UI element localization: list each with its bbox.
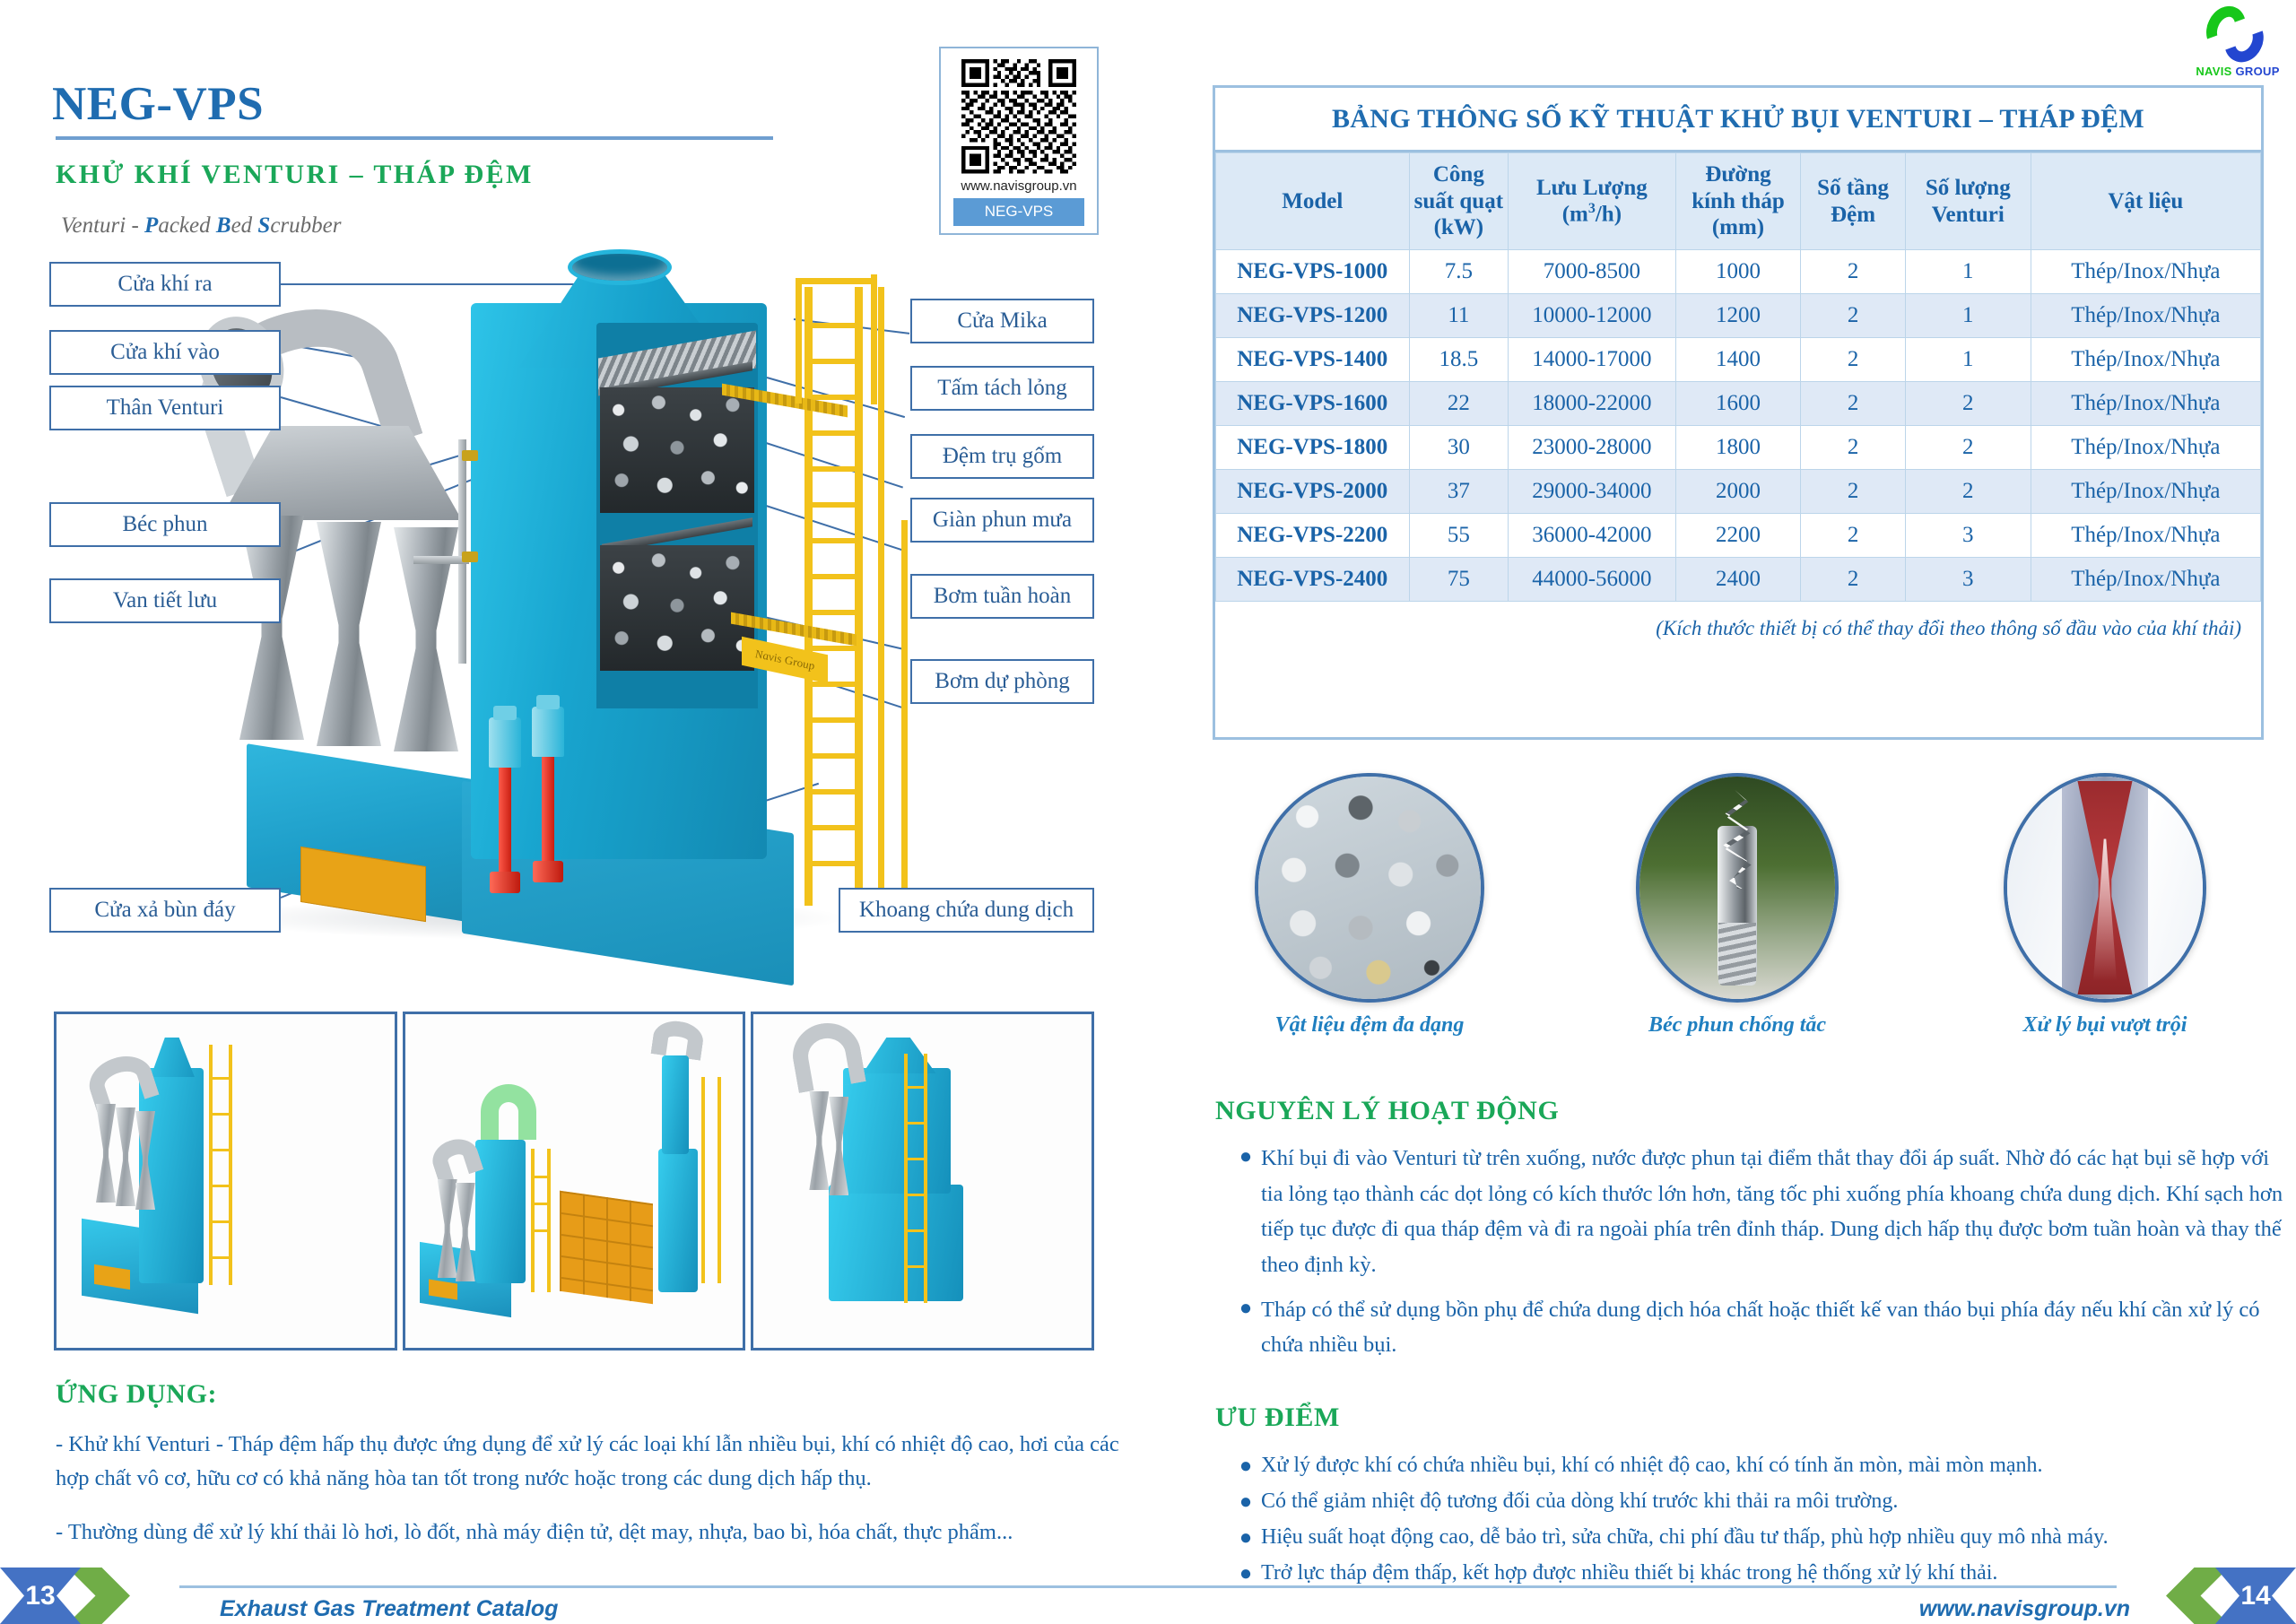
col-flow-rate: Lưu Lượng(m3/h) [1509,153,1675,250]
backup-pump-motor [532,707,564,757]
page-title: NEG-VPS [52,77,264,131]
callout-ceramic-packing: Đệm trụ gốm [910,434,1094,479]
circulation-pump-motor [489,717,521,768]
spec-table-container: BẢNG THÔNG SỐ KỸ THUẬT KHỬ BỤI VENTURI –… [1213,85,2264,740]
table-row: NEG-VPS-24007544000-56000240023Thép/Inox… [1216,558,2261,602]
venturi-throat-photo-icon [2004,773,2206,1003]
footer-divider [179,1585,2117,1588]
en-crubber: crubber [270,213,341,238]
throttle-valve-lower [462,551,478,562]
list-item: ● Hiệu suất hoạt động cao, dễ bảo trì, s… [1231,1522,2284,1554]
qr-url-text: www.navisgroup.vn [961,178,1076,194]
table-row: NEG-VPS-12001110000-12000120021Thép/Inox… [1216,294,2261,338]
callout-gas-outlet: Cửa khí ra [49,262,281,307]
callout-gas-inlet: Cửa khí vào [49,330,281,375]
advantage-bullet-2: Có thể giảm nhiệt độ tương đối của dòng … [1261,1486,1898,1516]
gas-outlet-stack [568,249,672,285]
spec-table-note: (Kích thước thiết bị có thể thay đổi the… [1215,602,2261,656]
callout-mika-door: Cửa Mika [910,299,1094,343]
logo-wordmark: NAVIS GROUP [2188,65,2287,78]
spec-table: Model Côngsuất quạt(kW) Lưu Lượng(m3/h) … [1215,152,2261,602]
feature-highlights: Vật liệu đệm đa dạng Béc phun chống tắc … [1213,773,2271,1033]
footer-website[interactable]: www.navisgroup.vn [1919,1596,2130,1622]
callout-circulation-pump: Bơm tuần hoàn [910,574,1094,619]
page-subtitle-english: Venturi - Packed Bed Scrubber [61,213,341,239]
feature-packing-media[interactable]: Vật liệu đệm đa dạng [1222,773,1518,1038]
en-ed: ed [231,213,258,238]
backup-pump-base [533,861,563,882]
qr-model-tag: NEG-VPS [953,198,1084,226]
advantages-heading: ƯU ĐIỂM [1215,1403,1340,1433]
col-fan-power: Côngsuất quạt(kW) [1409,153,1509,250]
bullet-dot-icon: ● [1231,1141,1261,1173]
callout-spray-nozzle: Béc phun [49,502,281,547]
en-s: S [257,213,270,238]
photo-single-scrubber[interactable] [54,1012,397,1350]
photo-tall-scrubber[interactable] [751,1012,1094,1350]
application-paragraph-2: - Thường dùng để xử lý khí thải lò hơi, … [56,1515,1132,1550]
en-b: B [216,213,231,238]
footer-chevron-green-left [67,1568,130,1624]
bullet-dot-icon: ● [1231,1522,1261,1554]
packing-media-photo-icon [1255,773,1484,1003]
application-heading: ỨNG DỤNG: [56,1379,217,1410]
logo-group-text: GROUP [2236,65,2280,78]
col-venturi-count: Số lượngVenturi [1905,153,2031,250]
table-row: NEG-VPS-10007.57000-8500100021Thép/Inox/… [1216,250,2261,294]
principle-heading: NGUYÊN LÝ HOẠT ĐỘNG [1215,1096,1559,1126]
scrubber-3d-illustration: Navis Group [193,269,946,977]
application-paragraph-1: - Khử khí Venturi - Tháp đệm hấp thụ đượ… [56,1428,1132,1496]
spray-nozzle-photo-icon [1636,773,1839,1003]
footer-catalog-title: Exhaust Gas Treatment Catalog [220,1596,558,1622]
circulation-pump-base [490,872,520,893]
venturi-throat-2 [317,522,381,746]
table-row: NEG-VPS-20003729000-34000200022Thép/Inox… [1216,470,2261,514]
bullet-dot-icon: ● [1231,1450,1261,1482]
spec-table-title: BẢNG THÔNG SỐ KỸ THUẬT KHỬ BỤI VENTURI –… [1215,88,2261,152]
access-ladder [796,287,910,906]
photo-system-line[interactable] [403,1012,746,1350]
qr-code-box[interactable]: www.navisgroup.vn NEG-VPS [939,47,1099,235]
list-item: ● Có thể giảm nhiệt độ tương đối của dòn… [1231,1486,2284,1518]
page-subtitle: KHỬ KHÍ VENTURI – THÁP ĐỆM [56,160,534,190]
page-number-left: 13 [0,1568,81,1624]
callout-backup-pump: Bơm dự phòng [910,659,1094,704]
col-tower-diameter: Đườngkính tháp(mm) [1675,153,1801,250]
equipment-diagram: Navis Group Cửa khí ra Cửa khí vào Thân … [49,269,1117,977]
catalog-page: NAVIS GROUP NEG-VPS KHỬ KHÍ VENTURI – TH… [0,0,2296,1624]
advantage-bullet-3: Hiệu suất hoạt động cao, dễ bảo trì, sửa… [1261,1522,2109,1552]
callout-mist-eliminator: Tấm tách lỏng [910,366,1094,411]
venturi-throat-1 [239,516,304,740]
page-number-right: 14 [2215,1568,2296,1624]
title-divider [56,136,773,140]
ceramic-packing-bed-upper [600,387,754,513]
list-item: ● Khí bụi đi vào Venturi từ trên xuống, … [1231,1141,2284,1283]
qr-code-icon [961,59,1077,174]
feature-venturi-dust[interactable]: Xử lý bụi vượt trội [1957,773,2253,1038]
table-header-row: Model Côngsuất quạt(kW) Lưu Lượng(m3/h) … [1216,153,2261,250]
throttle-valve-upper [462,450,478,461]
table-row: NEG-VPS-18003023000-28000180022Thép/Inox… [1216,426,2261,470]
principle-bullet-2: Tháp có thể sử dụng bồn phụ để chứa dung… [1261,1292,2284,1363]
principle-bullet-1: Khí bụi đi vào Venturi từ trên xuống, nư… [1261,1141,2284,1283]
table-row: NEG-VPS-16002218000-22000160022Thép/Inox… [1216,382,2261,426]
principle-bullets: ● Khí bụi đi vào Venturi từ trên xuống, … [1231,1141,2284,1367]
navis-group-logo: NAVIS GROUP [2188,5,2287,88]
logo-navis-text: NAVIS [2196,65,2231,78]
table-row: NEG-VPS-140018.514000-17000140021Thép/In… [1216,338,2261,382]
en-acked: acked [158,213,216,238]
bullet-dot-icon: ● [1231,1292,1261,1324]
navis-swirl-icon [2205,5,2270,63]
product-photo-strip [54,1012,1094,1350]
list-item: ● Tháp có thể sử dụng bồn phụ để chứa du… [1231,1292,2284,1363]
list-item: ● Xử lý được khí có chứa nhiều bụi, khí … [1231,1450,2284,1482]
col-material: Vật liệu [2031,153,2260,250]
callout-sludge-outlet: Cửa xả bùn đáy [49,888,281,933]
callout-liquid-chamber: Khoang chứa dung dịch [839,888,1094,933]
backup-pump-column [542,757,554,864]
advantages-bullets: ● Xử lý được khí có chứa nhiều bụi, khí … [1231,1450,2284,1594]
callout-spray-header: Giàn phun mưa [910,498,1094,543]
ceramic-packing-bed-lower [600,545,754,671]
col-model: Model [1216,153,1410,250]
bullet-dot-icon: ● [1231,1486,1261,1518]
feature-caption: Xử lý bụi vượt trội [1957,1013,2253,1038]
advantage-bullet-4: Trở lực tháp đệm thấp, kết hợp được nhiề… [1261,1558,1997,1588]
circulation-pump-column [499,768,511,875]
en-venturi: Venturi - [61,213,144,238]
callout-venturi-body: Thân Venturi [49,386,281,430]
feature-caption: Vật liệu đệm đa dạng [1222,1013,1518,1038]
feature-spray-nozzle[interactable]: Béc phun chống tắc [1589,773,1885,1038]
col-bed-count: Số tầngĐệm [1801,153,1906,250]
advantage-bullet-1: Xử lý được khí có chứa nhiều bụi, khí có… [1261,1450,2043,1481]
feature-caption: Béc phun chống tắc [1589,1013,1885,1038]
table-body: NEG-VPS-10007.57000-8500100021Thép/Inox/… [1216,250,2261,602]
table-row: NEG-VPS-22005536000-42000220023Thép/Inox… [1216,514,2261,558]
callout-throttle-valve: Van tiết lưu [49,578,281,623]
tower-cutaway [596,323,758,708]
en-p: P [144,213,158,238]
